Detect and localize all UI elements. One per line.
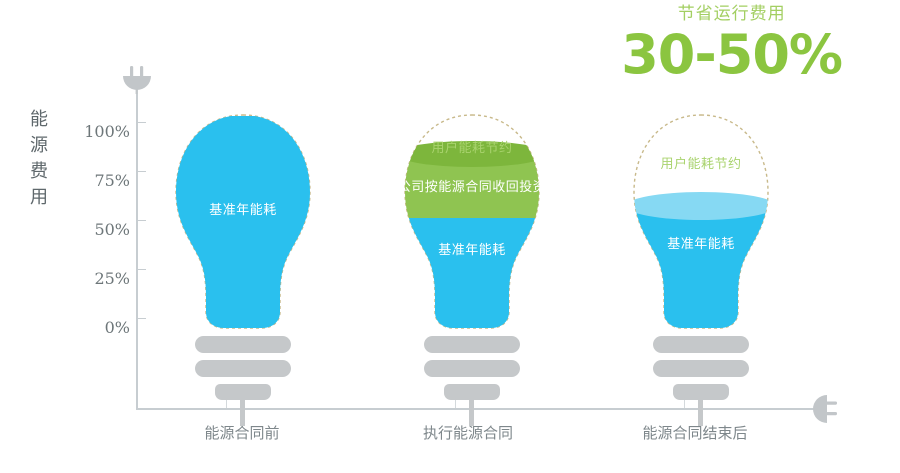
bulb-3-fill-baseline	[626, 206, 776, 334]
bulb-3-segment-label-baseline: 基准年能耗	[626, 234, 776, 254]
base-stem	[698, 398, 703, 426]
bulb-1-segment-label-baseline: 基准年能耗	[168, 200, 318, 220]
y-tick-mark-50	[137, 220, 146, 221]
power-plug-icon-top	[120, 66, 154, 94]
base-ring-1	[424, 336, 520, 353]
y-tick-50: 50%	[0, 220, 130, 221]
y-tick-label: 100%	[72, 122, 130, 141]
bulb-2-segment-label-baseline: 基准年能耗	[397, 240, 547, 260]
y-axis-title: 能源费用	[26, 106, 52, 210]
bulb-3-empty-label: 用户能耗节约	[626, 154, 776, 174]
base-stem	[469, 398, 474, 426]
base-ring-1	[653, 336, 749, 353]
bulb-1-fill-baseline	[168, 116, 318, 332]
y-tick-100: 100%	[0, 122, 130, 123]
y-tick-25: 25%	[0, 269, 130, 270]
headline-subtitle: 节省运行费用	[621, 4, 842, 24]
y-tick-mark-0	[137, 318, 146, 319]
y-tick-mark-25	[137, 269, 146, 270]
y-tick-mark-75	[137, 171, 146, 172]
bulb-1-shape	[168, 112, 318, 362]
y-tick-label: 0%	[72, 318, 130, 337]
x-category-label-3: 能源合同结束后	[585, 422, 805, 443]
bulb-2-fill-baseline	[397, 218, 547, 333]
base-ring-1	[195, 336, 291, 353]
y-axis-line	[136, 86, 138, 410]
x-category-label-2: 执行能源合同	[358, 422, 578, 443]
bulb-before-contract[interactable]: 基准年能耗	[168, 112, 318, 362]
bulb-during-contract[interactable]: 用户能耗节约 公司按能源合同收回投资 基准年能耗	[397, 112, 547, 362]
y-tick-mark-100	[137, 122, 146, 123]
headline-block: 节省运行费用 30-50%	[621, 4, 842, 84]
y-tick-label: 75%	[72, 171, 130, 190]
power-plug-icon-right	[808, 392, 838, 426]
base-ring-2	[653, 360, 749, 377]
bulb-2-segment-label-green: 公司按能源合同收回投资	[397, 174, 547, 200]
base-ring-2	[424, 360, 520, 377]
x-axis-line	[136, 408, 816, 410]
y-tick-label: 25%	[72, 269, 130, 288]
infographic-canvas: 节省运行费用 30-50% 100% 75% 50% 25%	[0, 0, 900, 473]
base-stem	[240, 398, 245, 426]
bulb-3-liquid-surface	[626, 192, 776, 220]
y-tick-0: 0%	[0, 318, 130, 319]
y-tick-label: 50%	[72, 220, 130, 239]
bulb-2-empty-label: 用户能耗节约	[397, 138, 547, 158]
headline-value: 30-50%	[621, 26, 842, 84]
y-tick-75: 75%	[0, 171, 130, 172]
base-ring-2	[195, 360, 291, 377]
bulb-after-contract[interactable]: 用户能耗节约 基准年能耗	[626, 112, 776, 362]
